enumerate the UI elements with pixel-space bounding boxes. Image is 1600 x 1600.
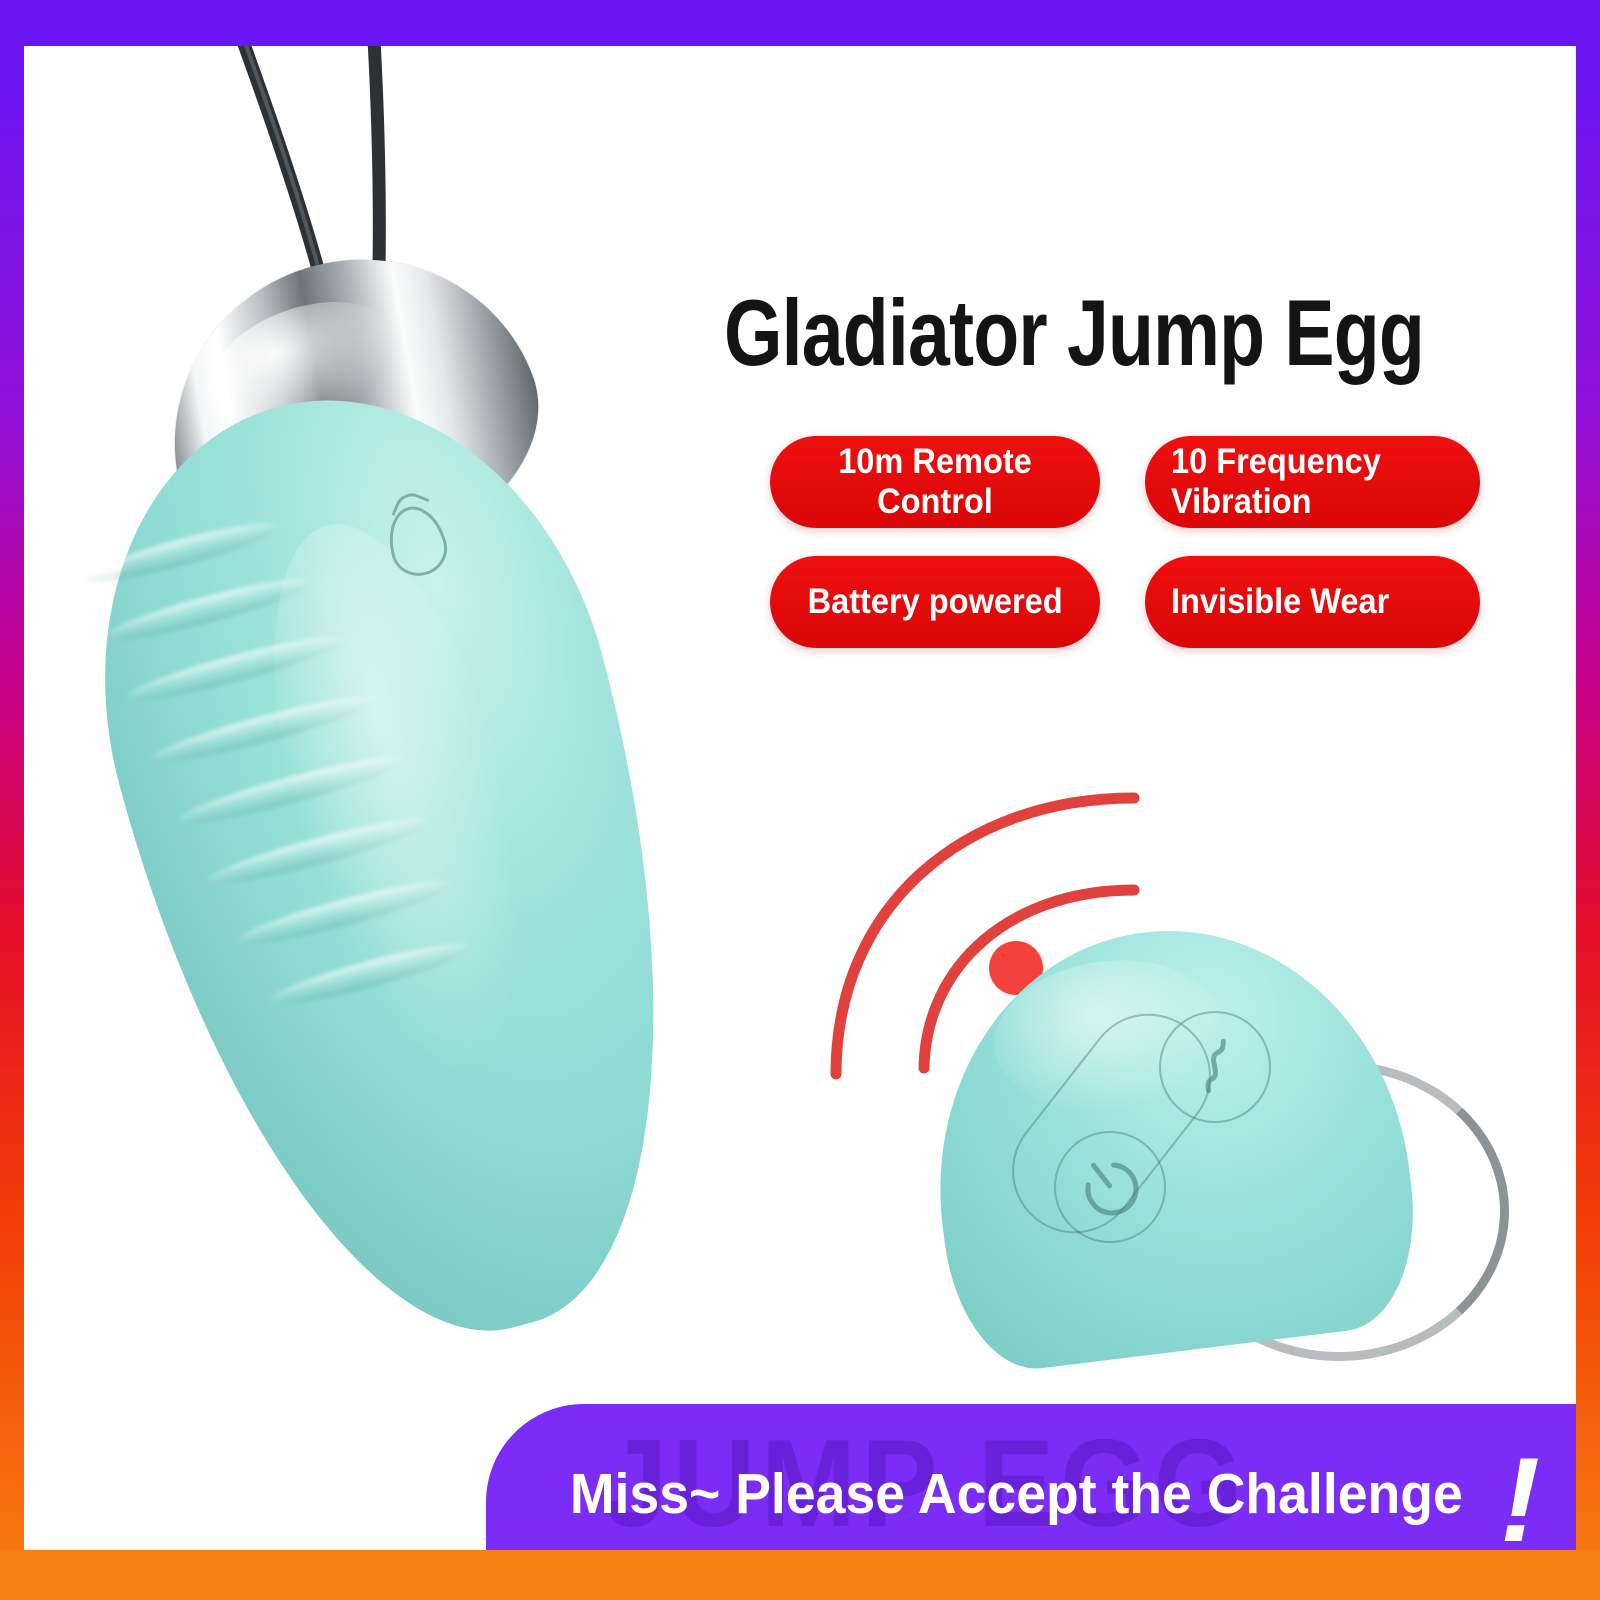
- vibration-wave-icon: [1161, 1013, 1273, 1125]
- cta-text: Miss~ Please Accept the Challenge: [570, 1466, 1444, 1523]
- feature-badge-list: 10m Remote Control 10 Frequency Vibratio…: [770, 436, 1490, 648]
- page-title: Gladiator Jump Egg: [714, 284, 1434, 382]
- remote-vibration-button[interactable]: [1159, 1011, 1271, 1123]
- cta-banner: JUMP EGG Miss~ Please Accept the Challen…: [486, 1404, 1576, 1550]
- power-icon: [1056, 1133, 1168, 1245]
- feature-badge-label: Invisible Wear: [1171, 582, 1389, 622]
- ad-canvas: Gladiator Jump Egg 10m Remote Control 10…: [24, 46, 1576, 1550]
- feature-badge-label: Battery powered: [807, 582, 1062, 622]
- feature-badge-label: 10m Remote Control: [806, 442, 1065, 521]
- frame-top-bar: [0, 0, 1600, 46]
- product-image-remote: [814, 786, 1554, 1426]
- feature-badge-frequency-vibration: 10 Frequency Vibration: [1145, 436, 1480, 528]
- feature-badge-battery-powered: Battery powered: [770, 556, 1100, 648]
- frame-bottom-bar: [0, 1550, 1600, 1600]
- exclamation-mark-icon: !: [1500, 1440, 1540, 1550]
- feature-badge-label: 10 Frequency Vibration: [1171, 442, 1381, 521]
- feature-badge-remote-control: 10m Remote Control: [770, 436, 1100, 528]
- ad-frame: Gladiator Jump Egg 10m Remote Control 10…: [0, 0, 1600, 1600]
- remote-power-button[interactable]: [1054, 1131, 1166, 1243]
- product-image-egg: [144, 216, 764, 1346]
- feature-badge-invisible-wear: Invisible Wear: [1145, 556, 1480, 648]
